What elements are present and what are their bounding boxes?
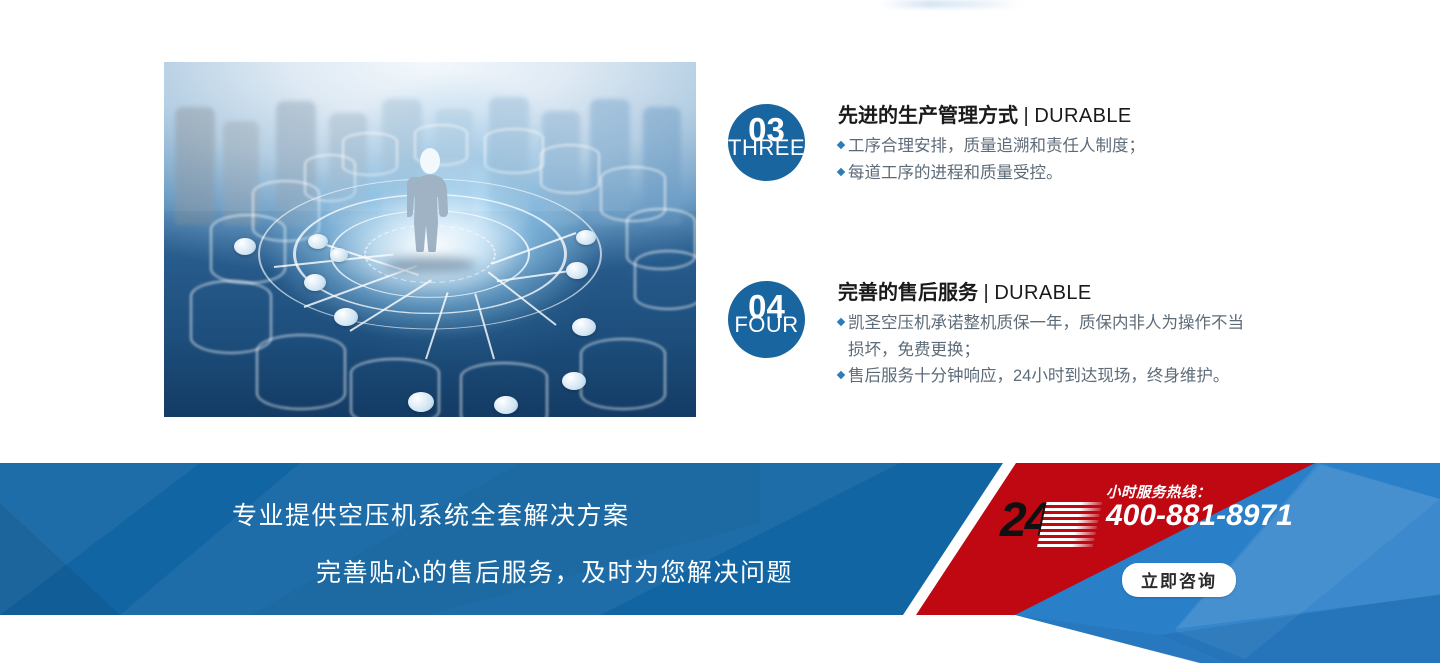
slogan-line-1: 专业提供空压机系统全套解决方案: [232, 496, 630, 532]
bullet-diamond-icon: [837, 318, 845, 326]
feature-item-text: 工序合理安排，质量追溯和责任人制度；: [848, 133, 1145, 160]
banner-slogan: 专业提供空压机系统全套解决方案 完善贴心的售后服务，及时为您解决问题: [0, 463, 930, 615]
feature-title-separator: |: [1018, 105, 1034, 127]
consult-now-button[interactable]: 立即咨询: [1122, 563, 1236, 597]
bullet-diamond-icon: [837, 167, 845, 175]
feature-item-text: 每道工序的进程和质量受控。: [848, 160, 1063, 187]
bullet-diamond-icon: [837, 141, 845, 149]
badge-word: THREE: [728, 137, 805, 159]
slogan-line-2: 完善贴心的售后服务，及时为您解决问题: [316, 553, 793, 589]
person-shadow: [384, 257, 476, 273]
hotline-block: 24 小时服务热线： 400-881-8971 立即咨询: [996, 463, 1316, 615]
feature-title-separator: |: [978, 282, 994, 304]
feature-item-text: 售后服务十分钟响应，24小时到达现场，终身维护。: [848, 363, 1229, 390]
feature-title-en: DURABLE: [1034, 105, 1131, 127]
badge-word: FOUR: [728, 314, 805, 336]
feature-title-04: 完善的售后服务 | DURABLE: [838, 281, 1248, 306]
feature-text-03: 先进的生产管理方式 | DURABLE 工序合理安排，质量追溯和责任人制度； 每…: [838, 104, 1145, 186]
concept-network-image: [164, 62, 696, 417]
bullet-diamond-icon: [837, 371, 845, 379]
bottom-cta-banner: 专业提供空压机系统全套解决方案 完善贴心的售后服务，及时为您解决问题 24 小时…: [0, 463, 1440, 663]
feature-item-text: 凯圣空压机承诺整机质保一年，质保内非人为操作不当损坏，免费更换；: [848, 310, 1248, 363]
page-root: 03 THREE 先进的生产管理方式 | DURABLE 工序合理安排，质量追溯…: [0, 0, 1440, 663]
feature-block-03: 03 THREE 先进的生产管理方式 | DURABLE 工序合理安排，质量追溯…: [728, 104, 1288, 186]
feature-block-04: 04 FOUR 完善的售后服务 | DURABLE 凯圣空压机承诺整机质保一年，…: [728, 281, 1248, 390]
person-figure-icon: [407, 147, 453, 252]
feature-title-en: DURABLE: [994, 282, 1091, 304]
feature-title-03: 先进的生产管理方式 | DURABLE: [838, 104, 1145, 129]
hotline-24-stripes-decoration: [1037, 499, 1103, 547]
feature-item: 售后服务十分钟响应，24小时到达现场，终身维护。: [838, 363, 1248, 390]
feature-title-cn: 完善的售后服务: [838, 282, 978, 304]
feature-text-04: 完善的售后服务 | DURABLE 凯圣空压机承诺整机质保一年，质保内非人为操作…: [838, 281, 1248, 390]
hotline-phone-number: 400-881-8971: [1106, 499, 1293, 533]
feature-item: 凯圣空压机承诺整机质保一年，质保内非人为操作不当损坏，免费更换；: [838, 310, 1248, 363]
feature-item: 每道工序的进程和质量受控。: [838, 160, 1145, 187]
feature-item: 工序合理安排，质量追溯和责任人制度；: [838, 133, 1145, 160]
top-edge-artifact: [880, 0, 1020, 8]
feature-title-cn: 先进的生产管理方式: [838, 105, 1018, 127]
feature-badge-03: 03 THREE: [728, 104, 805, 181]
feature-badge-04: 04 FOUR: [728, 281, 805, 358]
